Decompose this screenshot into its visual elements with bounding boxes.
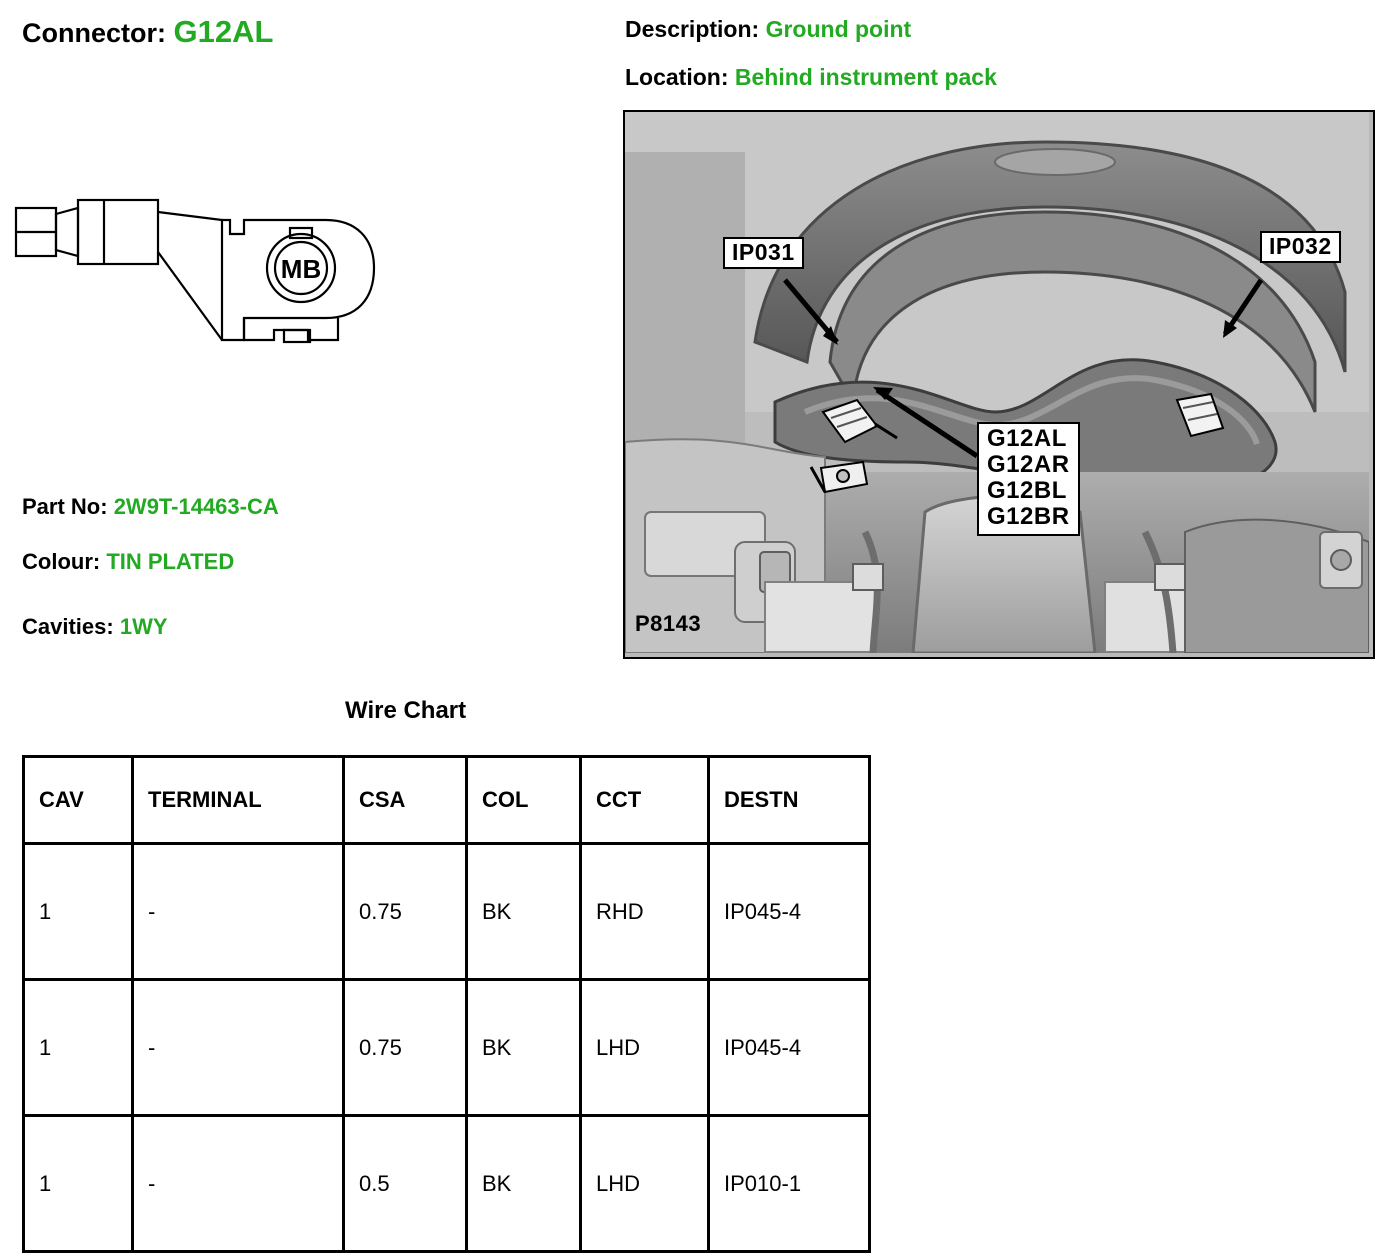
cell-cct: LHD — [581, 1116, 709, 1252]
description-label: Description: — [625, 16, 759, 42]
location-photo-graphic — [625, 112, 1369, 653]
description-value: Ground point — [766, 16, 912, 42]
colour-line: Colour: TIN PLATED — [22, 549, 234, 575]
cell-col: BK — [467, 844, 581, 980]
column-header-cct: CCT — [581, 757, 709, 844]
cell-cct: RHD — [581, 844, 709, 980]
cell-destn: IP010-1 — [709, 1116, 870, 1252]
dash-top-vent — [995, 149, 1115, 175]
photo-tag-ground-points: G12AL G12AR G12BL G12BR — [977, 422, 1080, 536]
connector-diagram-svg: MB — [8, 190, 408, 390]
location-photo: IP031 IP032 G12AL G12AR G12BL G12BR P814… — [623, 110, 1375, 659]
cavities-label: Cavities: — [22, 614, 114, 639]
part-number-label: Part No: — [22, 494, 108, 519]
ground-tag-line-2: G12AR — [987, 452, 1070, 478]
photo-tag-ip032: IP032 — [1260, 231, 1341, 263]
location-label: Location: — [625, 64, 729, 90]
ground-tag-line-1: G12AL — [987, 426, 1070, 452]
table-row: 1 - 0.75 BK LHD IP045-4 — [24, 980, 870, 1116]
wire-chart-title: Wire Chart — [345, 697, 466, 725]
ground-tag-line-3: G12BL — [987, 478, 1070, 504]
terminal-neck — [56, 208, 78, 256]
table-row: 1 - 0.5 BK LHD IP010-1 — [24, 1116, 870, 1252]
photo-left-pillar — [625, 152, 745, 452]
lead-bottom — [158, 252, 222, 340]
wire-chart-table: CAV TERMINAL CSA COL CCT DESTN 1 - 0.75 … — [22, 755, 871, 1253]
connector-foot-tab — [284, 330, 310, 342]
column-header-destn: DESTN — [709, 757, 870, 844]
cell-csa: 0.75 — [344, 844, 467, 980]
cell-terminal: - — [133, 844, 344, 980]
cell-col: BK — [467, 980, 581, 1116]
cell-cav: 1 — [24, 1116, 133, 1252]
location-line: Location: Behind instrument pack — [625, 64, 997, 91]
rod-clip-right — [1155, 564, 1185, 590]
rod-clip-left — [853, 564, 883, 590]
cell-destn: IP045-4 — [709, 844, 870, 980]
connector-value: G12AL — [174, 14, 274, 49]
photo-figure-id: P8143 — [635, 612, 701, 636]
cell-csa: 0.5 — [344, 1116, 467, 1252]
column-header-col: COL — [467, 757, 581, 844]
lead-top — [158, 212, 222, 220]
cavities-value: 1WY — [120, 614, 168, 639]
colour-value: TIN PLATED — [106, 549, 234, 574]
connector-diagram: MB — [8, 190, 408, 390]
description-line: Description: Ground point — [625, 16, 911, 43]
connector-label: Connector: — [22, 18, 166, 48]
part-number-line: Part No: 2W9T-14463-CA — [22, 494, 279, 520]
part-number-value: 2W9T-14463-CA — [114, 494, 279, 519]
column-header-csa: CSA — [344, 757, 467, 844]
photo-tag-ip031: IP031 — [723, 237, 804, 269]
cell-col: BK — [467, 1116, 581, 1252]
cell-terminal: - — [133, 980, 344, 1116]
colour-label: Colour: — [22, 549, 100, 574]
cell-destn: IP045-4 — [709, 980, 870, 1116]
cavities-line: Cavities: 1WY — [22, 614, 168, 640]
right-connector-ring — [1331, 550, 1351, 570]
cell-cct: LHD — [581, 980, 709, 1116]
table-row: 1 - 0.75 BK RHD IP045-4 — [24, 844, 870, 980]
ground-tag-line-4: G12BR — [987, 504, 1070, 530]
cell-csa: 0.75 — [344, 980, 467, 1116]
column-header-terminal: TERMINAL — [133, 757, 344, 844]
column-header-cav: CAV — [24, 757, 133, 844]
terminal-barrel — [78, 200, 158, 264]
location-value: Behind instrument pack — [735, 64, 997, 90]
cell-cav: 1 — [24, 980, 133, 1116]
lower-left-trim — [765, 582, 875, 652]
table-header-row: CAV TERMINAL CSA COL CCT DESTN — [24, 757, 870, 844]
cell-terminal: - — [133, 1116, 344, 1252]
cell-cav: 1 — [24, 844, 133, 980]
connector-line: Connector: G12AL — [22, 14, 273, 50]
cavity-marking-label: MB — [281, 254, 321, 284]
